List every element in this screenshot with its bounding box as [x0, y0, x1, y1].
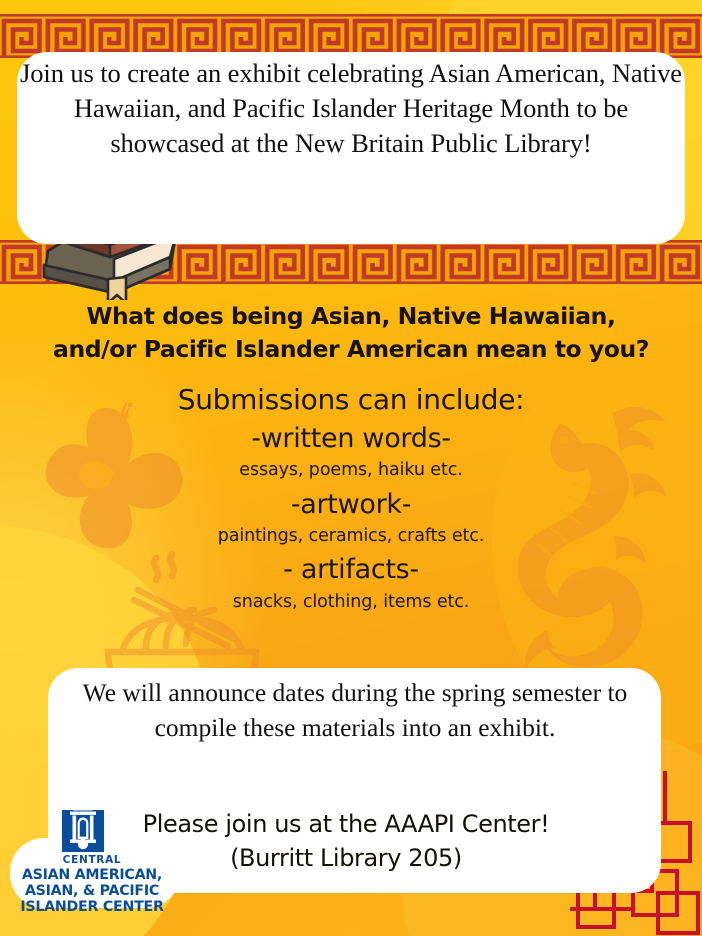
submission-category-examples: essays, poems, haiku etc.: [28, 459, 674, 483]
logo-name-line2: ASIAN, & PACIFIC: [12, 883, 172, 899]
submissions-block: Submissions can include: -written words-…: [28, 382, 674, 614]
submission-category-examples: snacks, clothing, items etc.: [28, 591, 674, 615]
logo-name: ASIAN AMERICAN, ASIAN, & PACIFIC ISLANDE…: [12, 867, 172, 915]
greek-key-border-middle: [0, 240, 702, 284]
ccsu-cupola-icon: [60, 792, 106, 854]
intro-text: Join us to create an exhibit celebrating…: [17, 56, 685, 162]
logo-name-line1: ASIAN AMERICAN,: [12, 867, 172, 883]
poster: Join us to create an exhibit celebrating…: [0, 0, 702, 936]
logo-name-line3: ISLANDER CENTER: [12, 899, 172, 915]
submission-category-title: -written words-: [28, 421, 674, 456]
submission-category-title: -artwork-: [28, 487, 674, 522]
announcement-text: We will announce dates during the spring…: [56, 676, 654, 745]
question-heading-line2: and/or Pacific Islander American mean to…: [28, 333, 674, 366]
submission-category-title: - artifacts-: [28, 552, 674, 587]
aaapi-center-logo: CENTRAL ASIAN AMERICAN, ASIAN, & PACIFIC…: [12, 792, 172, 914]
submissions-lead: Submissions can include:: [28, 382, 674, 417]
question-heading: What does being Asian, Native Hawaiian, …: [28, 300, 674, 367]
submission-category-examples: paintings, ceramics, crafts etc.: [28, 525, 674, 549]
question-heading-line1: What does being Asian, Native Hawaiian,: [28, 300, 674, 333]
logo-central-label: CENTRAL: [12, 854, 172, 866]
